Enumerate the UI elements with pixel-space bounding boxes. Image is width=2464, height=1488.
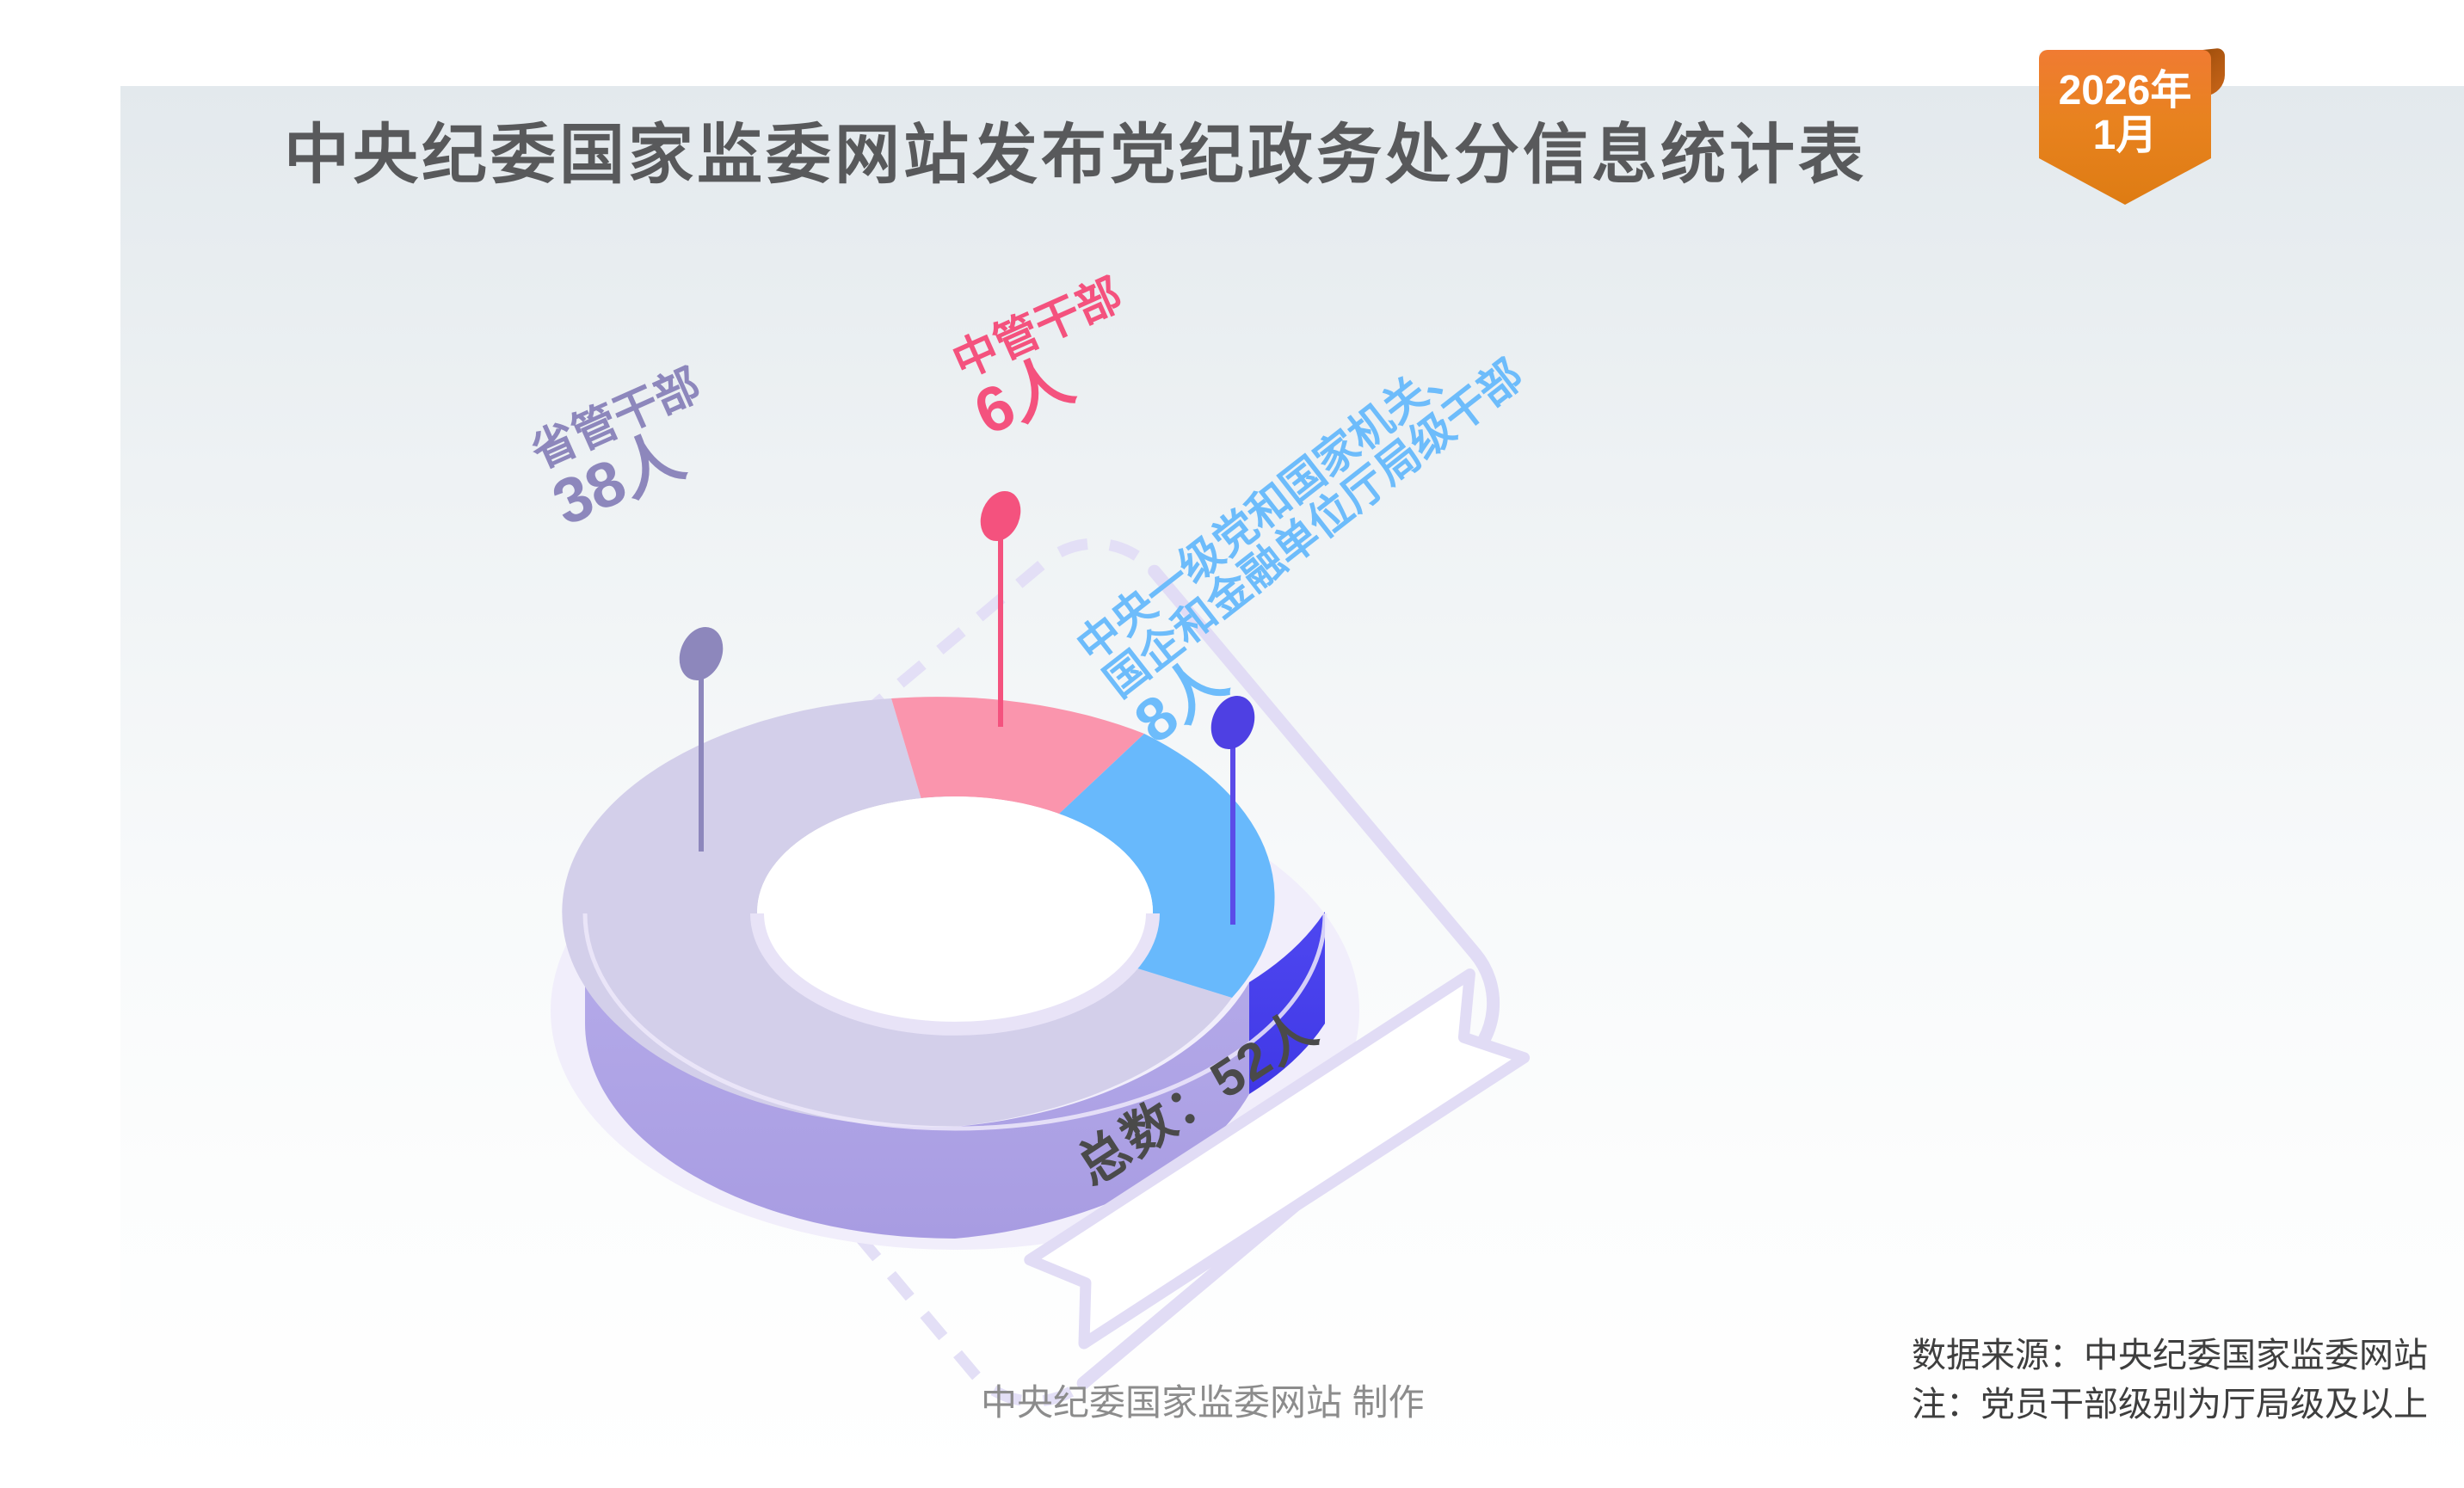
date-badge: 2026年 1月 [2039, 50, 2211, 205]
data-source: 数据来源：中央纪委国家监委网站 [1912, 1331, 2428, 1380]
made-by-credit: 中央纪委国家监委网站 制作 [981, 1374, 1425, 1426]
data-note: 注：党员干部级别为厅局级及以上 [1912, 1380, 2428, 1430]
leader-pin-pink [973, 485, 1027, 727]
badge-year: 2026年 [2059, 69, 2192, 114]
footnotes: 数据来源：中央纪委国家监委网站 注：党员干部级别为厅局级及以上 [1912, 1331, 2428, 1430]
donut-chart-3d [0, 0, 2464, 1488]
badge-month: 1月 [2093, 114, 2158, 158]
